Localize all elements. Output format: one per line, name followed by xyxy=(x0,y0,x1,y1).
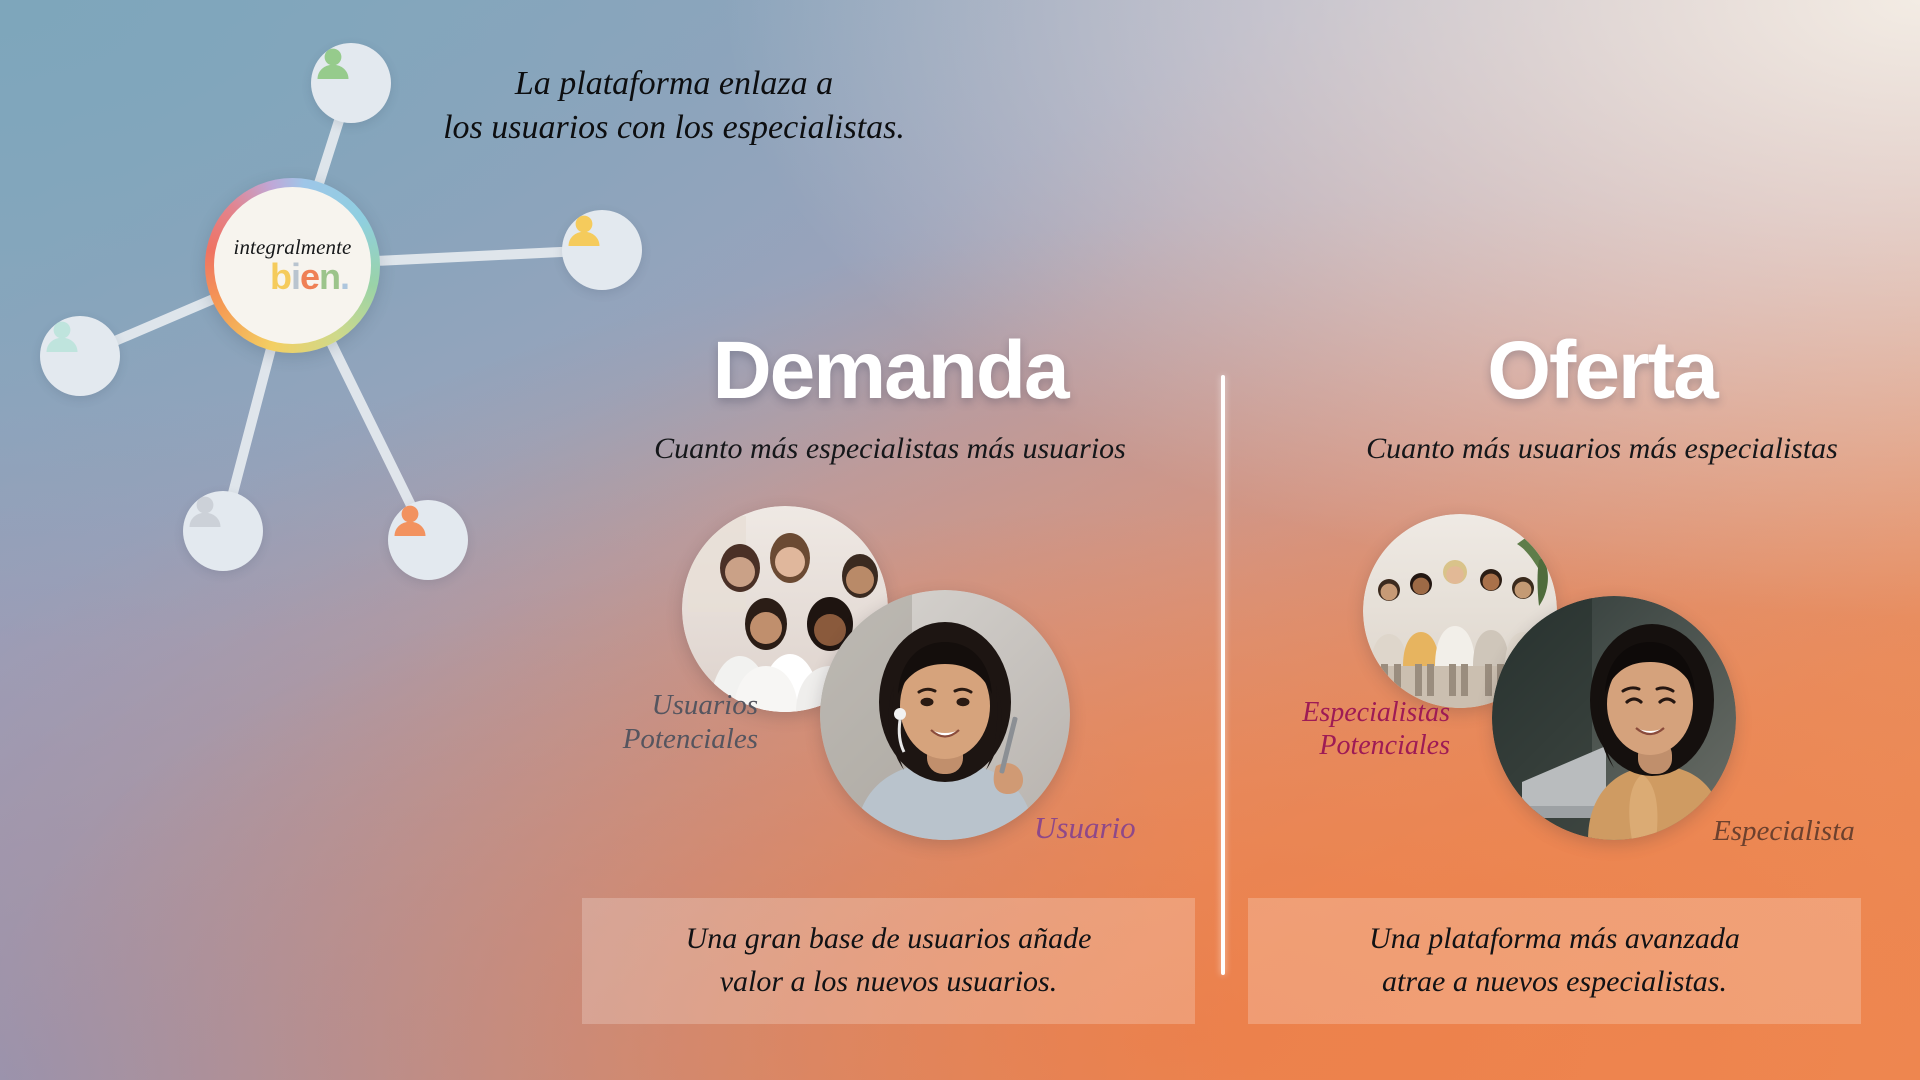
slide-canvas: integralmente bien. La plataforma enlaza… xyxy=(0,0,1920,1080)
column-title-demanda: Demanda xyxy=(510,330,1270,412)
brand-letter-e: e xyxy=(300,256,319,297)
headline-text: La plataforma enlaza a los usuarios con … xyxy=(404,62,944,150)
caption-demanda: Una gran base de usuarios añade valor a … xyxy=(582,898,1195,1024)
brand-letter-dot: . xyxy=(340,256,349,297)
person-icon xyxy=(40,316,84,360)
person-icon xyxy=(311,43,355,87)
label-especialista: Especialista xyxy=(1713,814,1855,848)
brand-letter-n: n xyxy=(319,256,340,297)
network-node-orange[interactable] xyxy=(388,500,468,580)
caption-oferta: Una plataforma más avanzada atrae a nuev… xyxy=(1248,898,1861,1024)
brand-wordmark-top: integralmente xyxy=(234,237,352,258)
person-icon xyxy=(183,491,227,535)
network-node-teal[interactable] xyxy=(40,316,120,396)
network-node-green[interactable] xyxy=(311,43,391,123)
network-node-yellow[interactable] xyxy=(562,210,642,290)
label-usuario: Usuario xyxy=(1034,810,1136,847)
person-icon xyxy=(388,500,432,544)
brand-wordmark-bien: bien. xyxy=(270,259,349,295)
brand-logo-inner: integralmente bien. xyxy=(214,187,371,344)
column-subtitle-demanda: Cuanto más especialistas más usuarios xyxy=(510,432,1270,466)
label-especialistas-potenciales: Especialistas Potenciales xyxy=(1290,696,1450,762)
column-oferta: Oferta Cuanto más usuarios más especiali… xyxy=(1222,330,1920,466)
label-usuarios-potenciales: Usuarios Potenciales xyxy=(608,688,758,756)
person-icon xyxy=(562,210,606,254)
photo-especialista[interactable] xyxy=(1492,596,1736,840)
column-subtitle-oferta: Cuanto más usuarios más especialistas xyxy=(1222,432,1920,466)
brand-letter-i: i xyxy=(291,256,300,297)
brand-logo[interactable]: integralmente bien. xyxy=(205,178,380,353)
brand-letter-b: b xyxy=(270,256,291,297)
photo-usuario[interactable] xyxy=(820,590,1070,840)
woman-working-on-laptop-photo xyxy=(1492,596,1736,840)
column-title-oferta: Oferta xyxy=(1222,330,1920,412)
smiling-woman-with-earphones-photo xyxy=(820,590,1070,840)
column-demanda: Demanda Cuanto más especialistas más usu… xyxy=(510,330,1270,466)
network-node-gray[interactable] xyxy=(183,491,263,571)
